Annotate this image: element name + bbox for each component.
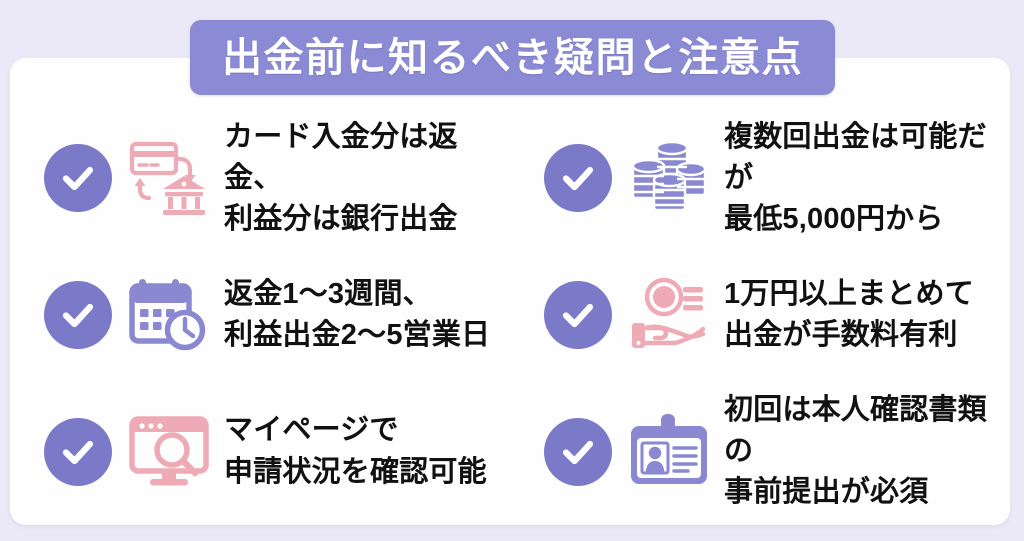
list-item: 返金1〜3週間、 利益出金2〜5営業日 [10,247,510,384]
list-item-label: カード入金分は返金、 利益分は銀行出金 [224,117,510,241]
check-icon [544,418,612,486]
list-item: 初回は本人確認書類の 事前提出が必須 [510,383,1010,520]
check-icon [544,144,612,212]
list-item: カード入金分は返金、 利益分は銀行出金 [10,110,510,247]
list-item: マイページで 申請状況を確認可能 [10,383,510,520]
list-item-label: マイページで 申請状況を確認可能 [224,410,487,492]
check-icon [44,144,112,212]
check-icon [544,281,612,349]
check-icon [44,281,112,349]
checklist-grid: カード入金分は返金、 利益分は銀行出金 [10,110,1010,520]
list-item: 複数回出金は可能だが 最低5,000円から [510,110,1010,247]
list-item-label: 1万円以上まとめて 出金が手数料有利 [724,274,974,356]
monitor-search-icon [126,409,212,495]
id-card-icon [626,409,712,495]
list-item: 1万円以上まとめて 出金が手数料有利 [510,247,1010,384]
list-item-label: 初回は本人確認書類の 事前提出が必須 [724,390,1010,514]
check-icon [44,418,112,486]
card-to-bank-icon [126,135,212,221]
hand-coin-icon [626,272,712,358]
page-title-banner: 出金前に知るべき疑問と注意点 [190,20,835,95]
calendar-clock-icon [126,272,212,358]
coin-stacks-icon [626,135,712,221]
list-item-label: 返金1〜3週間、 利益出金2〜5営業日 [224,274,490,356]
list-item-label: 複数回出金は可能だが 最低5,000円から [724,117,1010,241]
page-title: 出金前に知るべき疑問と注意点 [222,38,803,78]
